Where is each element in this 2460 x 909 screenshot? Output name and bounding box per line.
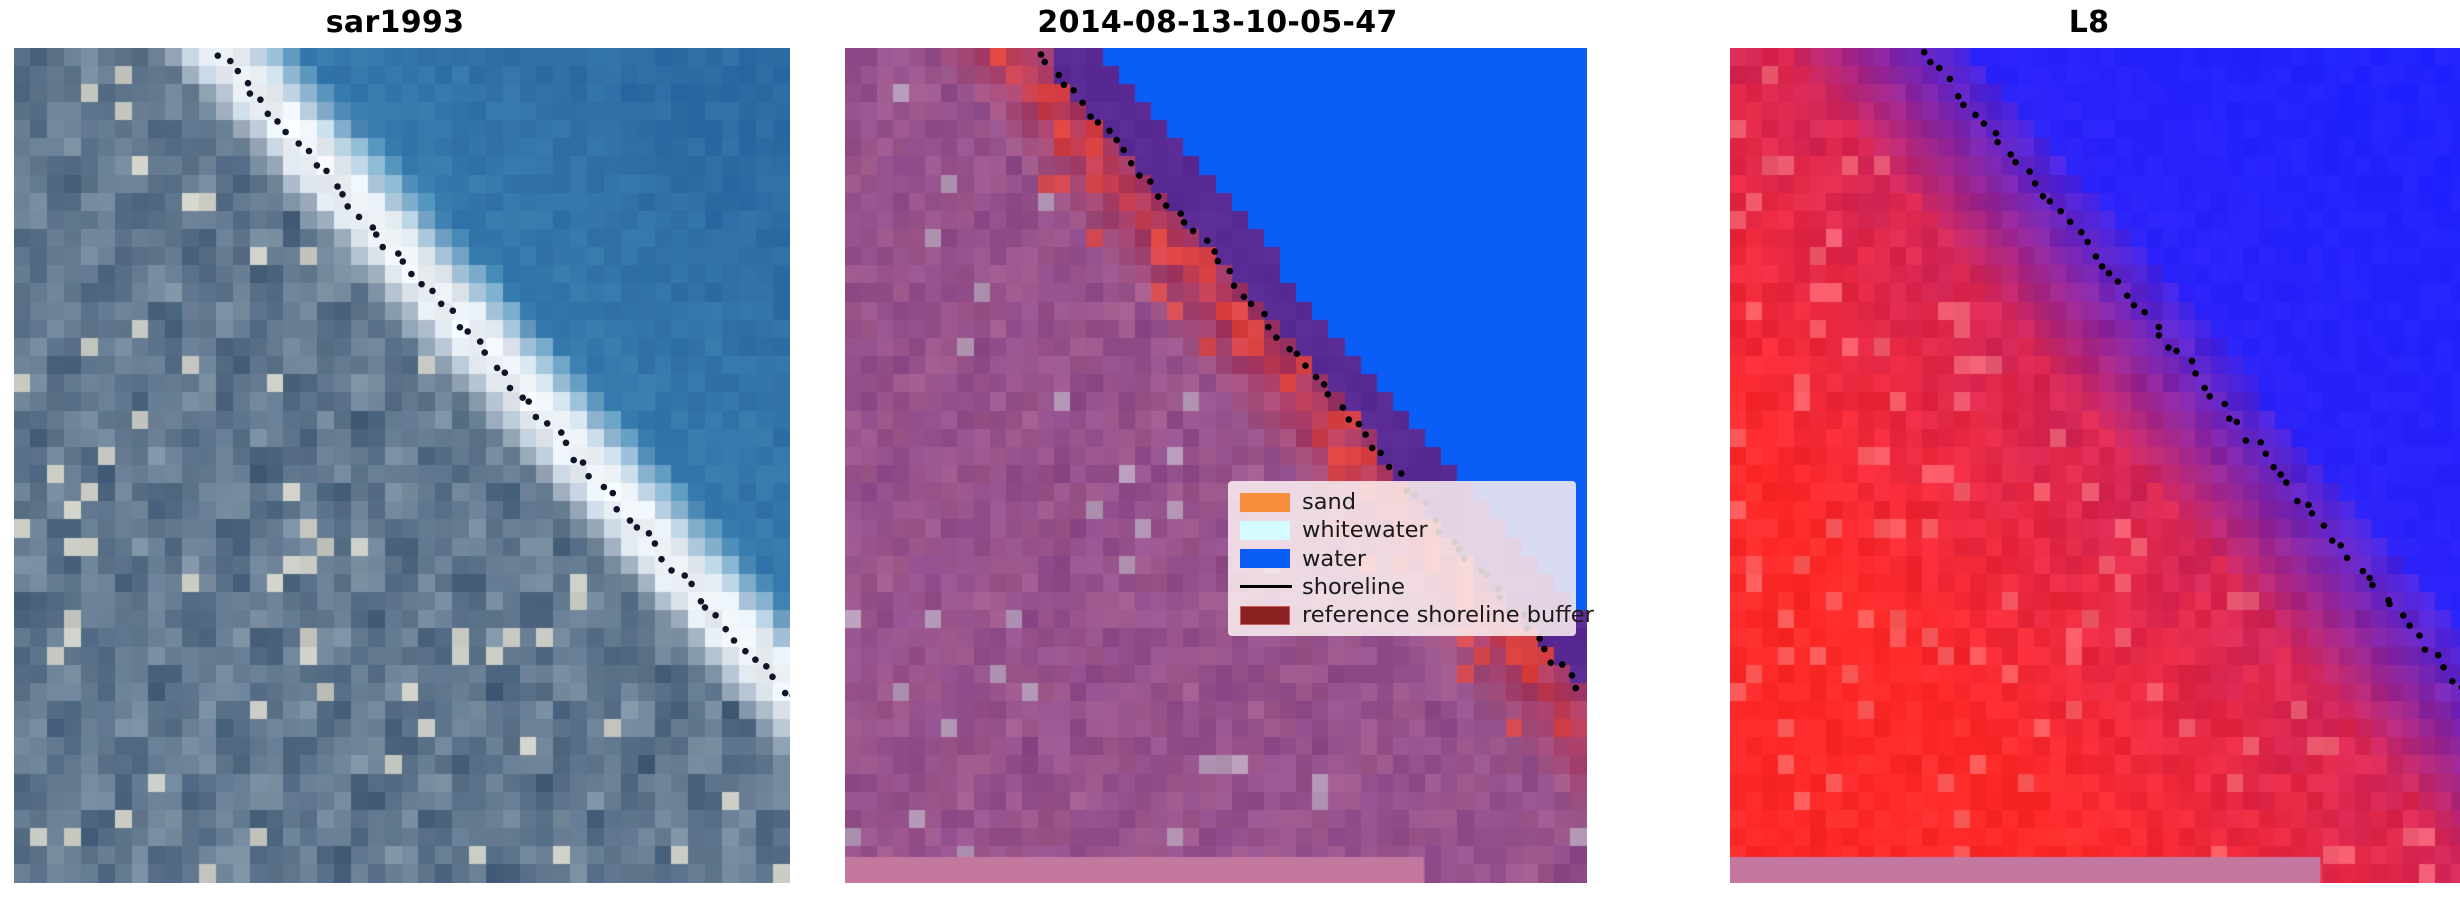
legend-swatch-sand-cell — [1240, 493, 1302, 512]
legend-swatch-water-cell — [1240, 549, 1302, 568]
legend-item-water: water — [1240, 545, 1566, 573]
legend-item-shoreline: shoreline — [1240, 573, 1566, 601]
legend-item-reference-shoreline-buffer: reference shoreline buffer — [1240, 601, 1566, 629]
legend-swatch-whitewater — [1240, 521, 1290, 540]
legend-item-whitewater: whitewater — [1240, 516, 1566, 544]
legend-label-shoreline: shoreline — [1302, 576, 1405, 598]
panel-title-sar1993: sar1993 — [0, 0, 790, 46]
legend-label-whitewater: whitewater — [1302, 519, 1428, 541]
panel-l8: L8 — [1718, 0, 2460, 909]
legend-swatch-sand — [1240, 493, 1290, 512]
legend-box: sand whitewater water shoreline referenc — [1228, 481, 1576, 636]
legend-label-reference-shoreline-buffer: reference shoreline buffer — [1302, 604, 1594, 626]
axes-classified-image — [845, 48, 1587, 883]
legend-swatch-buffer-cell — [1240, 606, 1302, 625]
classified-shoreline-overlay — [845, 48, 1587, 883]
sar1993-shoreline-overlay — [14, 48, 790, 883]
legend-item-sand: sand — [1240, 488, 1566, 516]
l8-shoreline-overlay — [1730, 48, 2460, 883]
axes-l8-image — [1730, 48, 2460, 883]
panel-title-classified: 2014-08-13-10-05-47 — [845, 0, 1590, 46]
legend-swatch-reference-shoreline-buffer — [1240, 606, 1290, 625]
panel-title-l8: L8 — [1718, 0, 2460, 46]
legend-swatch-whitewater-cell — [1240, 521, 1302, 540]
panel-classified: 2014-08-13-10-05-47 — [845, 0, 1590, 909]
panel-sar1993: sar1993 — [0, 0, 790, 909]
legend-swatch-water — [1240, 549, 1290, 568]
legend-label-water: water — [1302, 548, 1366, 570]
legend-swatch-shoreline-cell — [1240, 585, 1302, 588]
legend-line-shoreline — [1240, 585, 1292, 588]
axes-sar1993-image — [14, 48, 790, 883]
legend-label-sand: sand — [1302, 491, 1356, 513]
figure-canvas: sar1993 2014-08-13-10-05-47 L8 sand — [0, 0, 2460, 909]
